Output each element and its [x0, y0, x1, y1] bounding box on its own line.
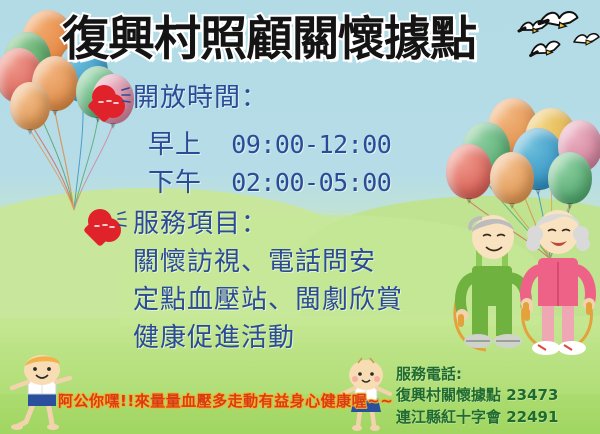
- hours-morning-time: 09:00-12:00: [231, 130, 391, 159]
- marquee-text: 阿公你嘿!!來量量血壓多走動有益身心健康喔~~: [58, 390, 393, 411]
- service-item: 關懷訪視、電話問安: [133, 249, 376, 275]
- poster-canvas: 復興村照顧關懷據點 開放時間： 早上 09:00-12:00 下午 02:00-…: [0, 0, 600, 434]
- hours-afternoon-row: 下午 02:00-05:00: [148, 170, 391, 196]
- hours-afternoon-label: 下午: [148, 170, 222, 196]
- contact-line: 連江縣紅十字會 22491: [396, 407, 558, 428]
- page-title: 復興村照顧關懷據點: [62, 16, 476, 63]
- balloon-icon: [10, 82, 50, 130]
- hours-heading: 開放時間：: [133, 85, 268, 111]
- contact-block: 服務電話: 復興村關懷據點 23473 連江縣紅十字會 22491: [396, 364, 558, 428]
- contact-line: 復興村關懷據點 23473: [396, 385, 558, 406]
- page-title-text: 復興村照顧關懷據點: [62, 12, 476, 67]
- balloon-icon: [446, 144, 492, 199]
- contact-heading: 服務電話:: [396, 364, 558, 385]
- balloon-icon: [490, 152, 534, 204]
- hours-afternoon-time: 02:00-05:00: [231, 168, 391, 197]
- service-item: 健康促進活動: [133, 325, 295, 351]
- heart-icon: [92, 88, 126, 120]
- services-heading: 服務項目：: [133, 211, 268, 237]
- heart-icon: [88, 212, 122, 244]
- hours-morning-label: 早上: [148, 132, 222, 158]
- elderly-woman-figure: [518, 212, 598, 376]
- service-item: 定點血壓站、閩劇欣賞: [133, 287, 403, 313]
- bird-icon: [571, 28, 600, 50]
- balloon-icon: [548, 152, 592, 204]
- bird-icon: [526, 34, 565, 64]
- hours-morning-row: 早上 09:00-12:00: [148, 132, 391, 158]
